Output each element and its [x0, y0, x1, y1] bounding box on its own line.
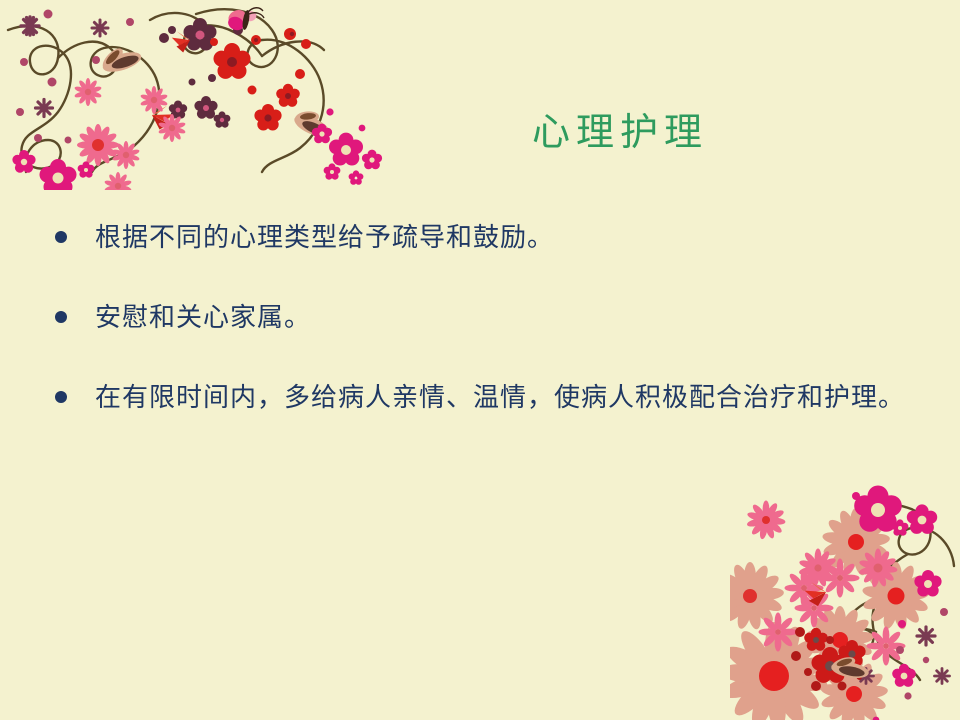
list-item-text: 根据不同的心理类型给予疏导和鼓励。: [95, 218, 915, 258]
list-item-text: 安慰和关心家属。: [95, 298, 915, 338]
page-title: 心理护理: [500, 108, 740, 156]
bullet-dot-icon: [55, 391, 67, 403]
bullet-dot-icon: [55, 311, 67, 323]
bullet-dot-icon: [55, 231, 67, 243]
bullet-list: 根据不同的心理类型给予疏导和鼓励。 安慰和关心家属。 在有限时间内，多给病人亲情…: [55, 218, 915, 458]
butterfly-icon: [226, 7, 264, 32]
slide-canvas: 心理护理 根据不同的心理类型给予疏导和鼓励。 安慰和关心家属。 在有限时间内，多…: [0, 0, 960, 720]
floral-corner-top-left-icon: [0, 0, 400, 190]
list-item: 根据不同的心理类型给予疏导和鼓励。: [55, 218, 915, 258]
list-item-text: 在有限时间内，多给病人亲情、温情，使病人积极配合治疗和护理。: [95, 378, 915, 418]
list-item: 在有限时间内，多给病人亲情、温情，使病人积极配合治疗和护理。: [55, 378, 915, 418]
floral-corner-bottom-right-icon: [730, 480, 960, 720]
list-item: 安慰和关心家属。: [55, 298, 915, 338]
